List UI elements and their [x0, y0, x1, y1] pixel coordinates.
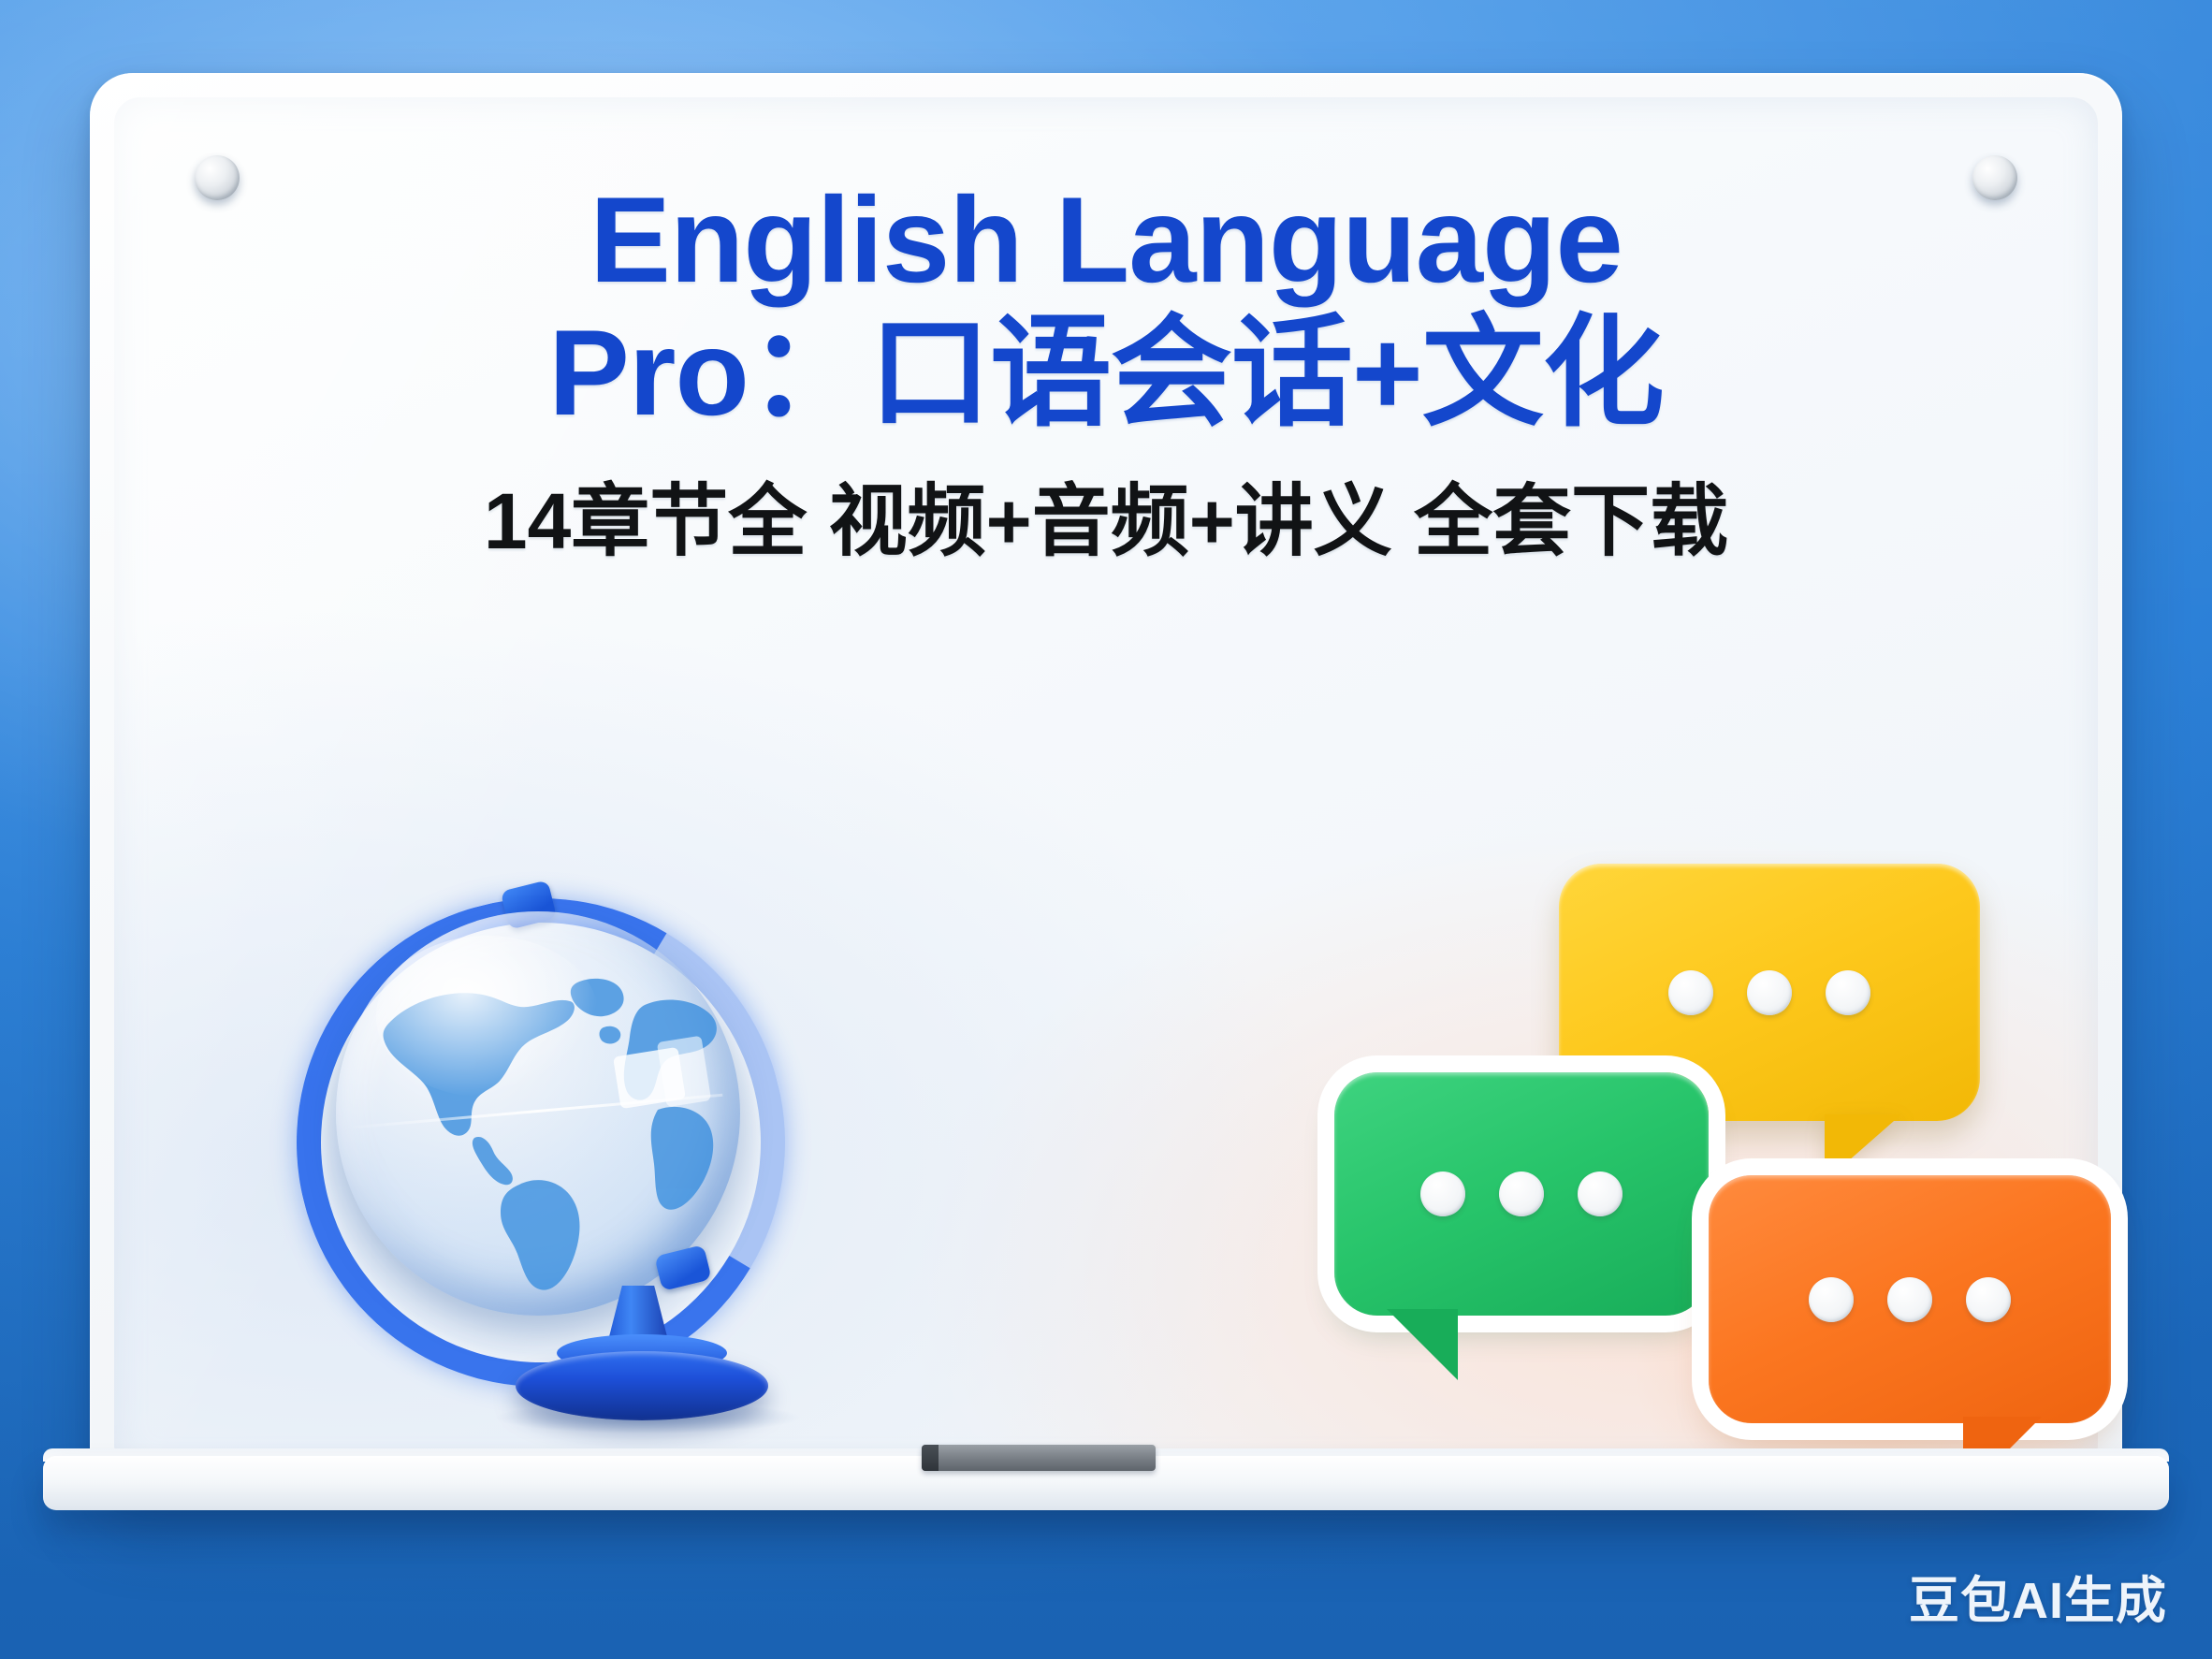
globe-base-disc: [516, 1351, 768, 1420]
globe-gloss-highlight: [376, 936, 599, 1098]
typing-dot: [1499, 1171, 1544, 1216]
globe-illustration: [291, 878, 815, 1458]
page-title-line-1: English Language: [90, 174, 2122, 307]
typing-dot: [1887, 1277, 1932, 1322]
speech-bubble-green-body: [1334, 1072, 1709, 1316]
page-subtitle: 14章节全 视频+音频+讲义 全套下载: [90, 478, 2122, 564]
whiteboard-eraser-cap: [922, 1445, 939, 1471]
typing-dot: [1809, 1277, 1854, 1322]
poster-text-block: English Language Pro：口语会话+文化 14章节全 视频+音频…: [90, 174, 2122, 565]
typing-dot: [1420, 1171, 1465, 1216]
typing-dot: [1578, 1171, 1623, 1216]
poster-canvas: English Language Pro：口语会话+文化 14章节全 视频+音频…: [0, 0, 2212, 1659]
typing-dot: [1668, 970, 1713, 1015]
typing-dot: [1747, 970, 1792, 1015]
speech-bubble-green-icon: [1334, 1072, 1709, 1316]
typing-dot: [1966, 1277, 2011, 1322]
whiteboard-eraser: [922, 1445, 1156, 1471]
speech-bubble-orange-body: [1709, 1175, 2111, 1423]
watermark: 豆包AI生成: [1909, 1559, 2167, 1633]
whiteboard: English Language Pro：口语会话+文化 14章节全 视频+音频…: [90, 73, 2122, 1495]
speech-bubble-yellow-tail: [1825, 1114, 1901, 1182]
speech-bubble-orange-icon: [1709, 1175, 2111, 1423]
speech-bubble-green-tail: [1387, 1309, 1458, 1380]
typing-dot: [1826, 970, 1870, 1015]
page-title-line-2: Pro：口语会话+文化: [90, 307, 2122, 440]
